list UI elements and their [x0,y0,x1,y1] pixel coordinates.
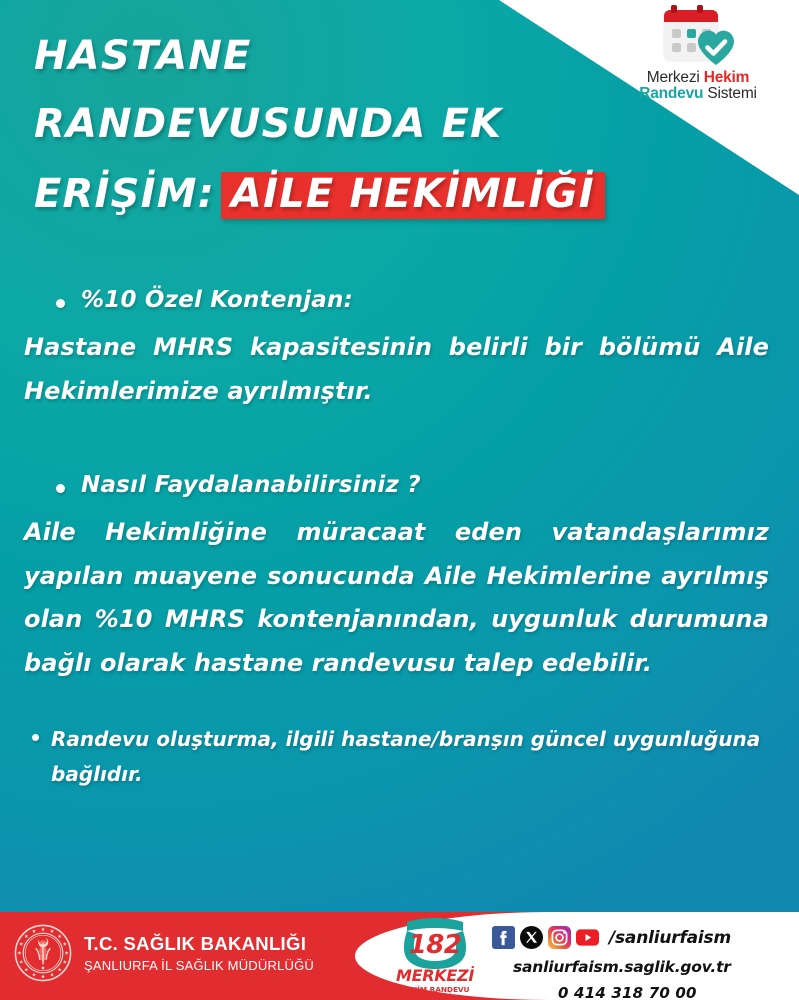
ministry-text: T.C. SAĞLIK BAKANLIĞI ŞANLIURFA İL SAĞLI… [84,933,314,973]
headline-line-2: RANDEVUSUNDA EK [34,104,594,144]
brand-word-hekim: Hekim [704,69,750,86]
section-spacer [0,419,799,471]
note-text: Randevu oluşturma, ilgili hastane/branşı… [51,722,763,792]
mhrs-logo-mark [660,8,736,66]
ministry-subtitle: ŞANLIURFA İL SAĞLIK MÜDÜRLÜĞÜ [84,958,314,973]
heart-check-icon [696,28,736,66]
mhrs-brand-logo: Merkezi HekimRandevu Sistemi [603,8,793,103]
contact-phone: 0 414 318 70 00 [558,984,731,1000]
headline-highlight-badge: AİLE HEKİMLİĞİ [221,172,605,219]
footer-bar: T.C. SAĞLIK BAKANLIĞI ŞANLIURFA İL SAĞLI… [0,912,799,1000]
facebook-icon[interactable] [492,926,515,949]
bullet-heading-text: Nasıl Faydalanabilirsiniz ? [81,471,421,501]
hotline-mark: 182 [396,918,474,970]
youtube-icon[interactable] [576,926,599,949]
paragraph-2: Aile Hekimliğine müracaat eden vatandaşl… [0,511,799,686]
page-title: HASTANE RANDEVUSUNDA EK ERİŞİM:AİLE HEKİ… [34,36,594,219]
x-twitter-icon[interactable] [520,926,543,949]
bullet-dot-icon [56,484,65,493]
brand-word-sistemi: Sistemi [703,85,757,102]
content-block-1: %10 Özel Kontenjan: Hastane MHRS kapasit… [0,286,799,413]
hotline-subtitle: HEKİM RANDEVU SİSTEMİ [392,986,478,1000]
content-note: Randevu oluşturma, ilgili hastane/branşı… [0,722,799,792]
poster-canvas: Merkezi HekimRandevu Sistemi HASTANE RAN… [0,0,799,1000]
brand-word-randevu: Randevu [639,85,703,102]
social-contact-block: /sanliurfaism sanliurfaism.saglik.gov.tr… [492,926,731,1000]
hotline-number: 182 [396,930,474,960]
website-url[interactable]: sanliurfaism.saglik.gov.tr [513,958,731,976]
paragraph-1: Hastane MHRS kapasitesinin belirli bir b… [0,326,799,413]
section-spacer [0,692,799,722]
calendar-cell [672,29,681,38]
ministry-identity: T.C. SAĞLIK BAKANLIĞI ŞANLIURFA İL SAĞLI… [14,924,314,982]
hotline-title: MERKEZİ [392,968,478,984]
instagram-icon[interactable] [548,926,571,949]
bullet-heading-1: %10 Özel Kontenjan: [0,286,799,316]
social-handle[interactable]: /sanliurfaism [609,928,731,948]
content-block-2: Nasıl Faydalanabilirsiniz ? Aile Hekimli… [0,471,799,686]
calendar-cell [672,43,681,52]
bullet-dot-icon [32,734,39,741]
mhrs-brand-name: Merkezi HekimRandevu Sistemi [603,70,793,103]
brand-word-merkezi: Merkezi [647,69,704,86]
social-icons-row: /sanliurfaism [492,926,731,949]
calendar-cell [687,43,696,52]
ministry-seal-icon [14,924,72,982]
calendar-ring-tab [697,5,703,13]
bullet-heading-2: Nasıl Faydalanabilirsiniz ? [0,471,799,501]
ministry-title: T.C. SAĞLIK BAKANLIĞI [84,933,314,955]
content-body: %10 Özel Kontenjan: Hastane MHRS kapasit… [0,286,799,792]
calendar-ring-tab [671,5,677,13]
headline-prefix: ERİŞİM: [34,171,215,217]
calendar-cell-highlight [687,29,696,38]
headline-line-1: HASTANE [34,36,594,76]
bullet-heading-text: %10 Özel Kontenjan: [81,286,353,316]
headline-line-3: ERİŞİM:AİLE HEKİMLİĞİ [34,172,594,219]
bullet-dot-icon [56,299,65,308]
hotline-182-logo: 182 MERKEZİ HEKİM RANDEVU SİSTEMİ [392,918,478,998]
